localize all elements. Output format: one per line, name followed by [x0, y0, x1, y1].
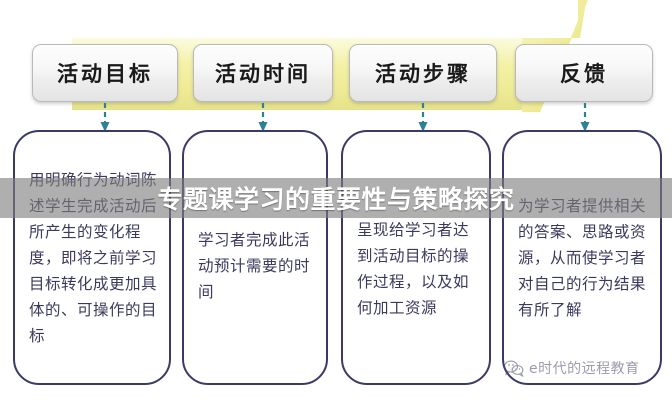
detail-box-activity-steps[interactable]: 呈现给学习者达到活动目标的操作过程，以及如何加工资源 — [341, 130, 491, 385]
stage-box-feedback[interactable]: 反馈 — [515, 44, 653, 102]
detail-box-activity-goal[interactable]: 用明确行为动词陈述学生完成活动后所产生的变化程度，即将之前学习目标转化成更加具体… — [13, 130, 171, 385]
stage-label: 反馈 — [560, 58, 608, 88]
detail-text: 用明确行为动词陈述学生完成活动后所产生的变化程度，即将之前学习目标转化成更加具体… — [29, 168, 159, 350]
detail-text: 学习者完成此活动预计需要的时间 — [198, 228, 316, 306]
stage-label: 活动步骤 — [375, 58, 471, 88]
detail-box-feedback[interactable]: 为学习者提供相关的答案、思路或资源，从而使学习者对自己的行为结果有所了解 — [502, 130, 662, 385]
stage-box-activity-goal[interactable]: 活动目标 — [32, 44, 178, 102]
slide-canvas: 活动目标 活动时间 活动步骤 反馈 用明确行为动词陈述学生完成活动后所产生的变化… — [0, 0, 672, 400]
detail-text: 为学习者提供相关的答案、思路或资源，从而使学习者对自己的行为结果有所了解 — [518, 194, 650, 324]
stage-label: 活动时间 — [215, 58, 311, 88]
dashed-down-arrow-icon — [256, 103, 270, 133]
detail-text: 呈现给学习者达到活动目标的操作过程，以及如何加工资源 — [357, 218, 479, 322]
stage-box-activity-time[interactable]: 活动时间 — [193, 44, 333, 102]
detail-box-activity-time[interactable]: 学习者完成此活动预计需要的时间 — [182, 130, 328, 385]
dashed-down-arrow-icon — [578, 103, 592, 133]
stage-label: 活动目标 — [57, 58, 153, 88]
stage-box-activity-steps[interactable]: 活动步骤 — [349, 44, 497, 102]
dashed-down-arrow-icon — [98, 103, 112, 133]
dashed-down-arrow-icon — [416, 103, 430, 133]
